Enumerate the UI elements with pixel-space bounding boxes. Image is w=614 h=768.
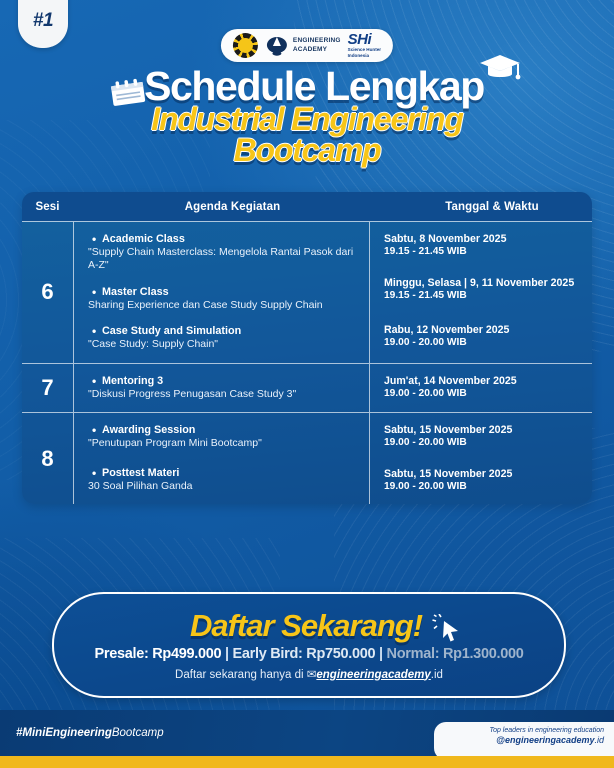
agenda-subtitle: "Case Study: Supply Chain" [88,338,359,351]
logo-academy-line1: ENGINEERING [293,37,341,45]
table-header-tanggal: Tanggal & Waktu [392,201,592,213]
cta-pricing: Presale: Rp499.000 | Early Bird: Rp750.0… [94,646,523,662]
schedule-table: Sesi Agenda Kegiatan Tanggal & Waktu 6 A… [22,192,592,504]
agenda-title: Case Study and Simulation [88,325,359,337]
schedule-time: 19.15 - 21.45 WIB [384,246,584,257]
agenda-subtitle: Sharing Experience dan Case Study Supply… [88,299,359,312]
schedule-date: Sabtu, 15 November 2025 [384,424,584,436]
agenda-cell: Academic Class "Supply Chain Masterclass… [74,222,369,363]
logo-engineering-academy: ENGINEERING ACADEMY [265,34,341,58]
schedule-item: Minggu, Selasa | 9, 11 November 2025 19.… [384,277,584,301]
footer-hashtag: #MiniEngineeringBootcamp [16,727,164,739]
headline-line1: Schedule Lengkap [144,63,484,109]
agenda-title: Academic Class [88,233,359,245]
agenda-cell: Mentoring 3 "Diskusi Progress Penugasan … [74,364,369,412]
price-presale: Presale: Rp499.000 [94,646,221,662]
bottom-yellow-strip [0,756,614,768]
cta-subtext: Daftar sekarang hanya di ✉engineeringaca… [175,667,443,681]
graduation-cap-icon [478,52,522,84]
price-sep-1: | [221,646,232,662]
gear-logo-icon [233,33,258,58]
table-header-agenda: Agenda Kegiatan [73,201,392,213]
price-normal: Normal: Rp1.300.000 [387,646,524,662]
schedule-item: Sabtu, 15 November 2025 19.00 - 20.00 WI… [384,424,584,448]
price-sep-2: | [375,646,386,662]
schedule-time: 19.00 - 20.00 WIB [384,337,584,348]
headline-line1-wrap: Schedule Lengkap [122,66,492,106]
schedule-cell: Sabtu, 8 November 2025 19.15 - 21.45 WIB… [369,222,592,363]
schedule-time: 19.00 - 20.00 WIB [384,388,584,399]
agenda-item: Master Class Sharing Experience dan Case… [88,286,359,312]
logo-academy-text: ENGINEERING ACADEMY [293,37,341,53]
poster-root: #1 ENGINEERING ACADEMY SHi Science Hunte… [0,0,614,768]
schedule-item: Jum'at, 14 November 2025 19.00 - 20.00 W… [384,375,584,399]
logo-shi: SHi Science Hunter Indonesia [348,32,381,58]
agenda-item: Academic Class "Supply Chain Masterclass… [88,233,359,273]
agenda-item: Mentoring 3 "Diskusi Progress Penugasan … [88,375,359,401]
schedule-time: 19.00 - 20.00 WIB [384,481,584,492]
agenda-title: Mentoring 3 [88,375,359,387]
cta-register-box[interactable]: Daftar Sekarang! Presale: Rp499.000 | Ea… [52,592,566,698]
schedule-date: Sabtu, 15 November 2025 [384,468,584,480]
footer-handle-suffix: .id [594,735,604,745]
agenda-subtitle: "Diskusi Progress Penugasan Case Study 3… [88,388,359,401]
schedule-item: Rabu, 12 November 2025 19.00 - 20.00 WIB [384,324,584,348]
headline: Schedule Lengkap Industrial Engineering … [0,66,614,166]
agenda-subtitle: "Supply Chain Masterclass: Mengelola Ran… [88,246,359,273]
rank-badge-label: #1 [33,10,53,32]
session-number: 7 [22,364,74,412]
schedule-cell: Sabtu, 15 November 2025 19.00 - 20.00 WI… [369,413,592,504]
helmet-logo-icon [265,34,289,58]
cta-heading-wrap: Daftar Sekarang! [190,610,428,641]
schedule-date: Rabu, 12 November 2025 [384,324,584,336]
table-row: 8 Awarding Session "Penutupan Program Mi… [22,412,592,504]
schedule-item: Sabtu, 15 November 2025 19.00 - 20.00 WI… [384,468,584,492]
session-number: 6 [22,222,74,363]
agenda-subtitle: "Penutupan Program Mini Bootcamp" [88,437,359,450]
agenda-title: Master Class [88,286,359,298]
schedule-cell: Jum'at, 14 November 2025 19.00 - 20.00 W… [369,364,592,412]
agenda-item: Case Study and Simulation "Case Study: S… [88,325,359,351]
schedule-date: Sabtu, 8 November 2025 [384,233,584,245]
schedule-time: 19.15 - 21.45 WIB [384,290,584,301]
rank-badge: #1 [18,0,68,48]
schedule-date: Jum'at, 14 November 2025 [384,375,584,387]
footer: #MiniEngineeringBootcamp Top leaders in … [0,710,614,756]
schedule-date: Minggu, Selasa | 9, 11 November 2025 [384,277,584,289]
cta-subtext-prefix: Daftar sekarang hanya di [175,669,307,681]
agenda-title: Awarding Session [88,424,359,436]
agenda-item: Awarding Session "Penutupan Program Mini… [88,424,359,450]
logo-academy-line2: ACADEMY [293,46,341,54]
click-cursor-icon [432,614,464,644]
at-icon: ✉ [307,669,317,681]
calendar-icon [108,78,148,108]
table-header-sesi: Sesi [22,201,73,213]
footer-hashtag-light: Bootcamp [112,727,164,739]
logo-shi-abbr: SHi [348,32,381,47]
logo-teknik [233,33,258,58]
price-early-bird: Early Bird: Rp750.000 [233,646,376,662]
table-row: 7 Mentoring 3 "Diskusi Progress Penugasa… [22,363,592,412]
headline-line3: Bootcamp [0,134,614,167]
cta-handle-suffix: .id [431,669,443,681]
logo-bar: ENGINEERING ACADEMY SHi Science Hunter I… [221,29,393,62]
agenda-subtitle: 30 Soal Pilihan Ganda [88,480,359,493]
schedule-time: 19.00 - 20.00 WIB [384,437,584,448]
schedule-item: Sabtu, 8 November 2025 19.15 - 21.45 WIB [384,233,584,257]
footer-brand-pill: Top leaders in engineering education @en… [434,722,614,760]
agenda-cell: Awarding Session "Penutupan Program Mini… [74,413,369,504]
agenda-item: Posttest Materi 30 Soal Pilihan Ganda [88,467,359,493]
footer-handle: @engineeringacademy [496,735,594,745]
cta-heading: Daftar Sekarang! [190,608,422,643]
agenda-title: Posttest Materi [88,467,359,479]
footer-tagline: Top leaders in engineering education [448,727,604,734]
footer-handle-wrap: @engineeringacademy.id [448,735,604,745]
table-header-row: Sesi Agenda Kegiatan Tanggal & Waktu [22,192,592,221]
cta-handle[interactable]: engineeringacademy [316,669,430,681]
table-row: 6 Academic Class "Supply Chain Mastercla… [22,221,592,363]
session-number: 8 [22,413,74,504]
logo-shi-sub2: Indonesia [348,54,381,59]
footer-hashtag-bold: #MiniEngineering [16,727,112,739]
